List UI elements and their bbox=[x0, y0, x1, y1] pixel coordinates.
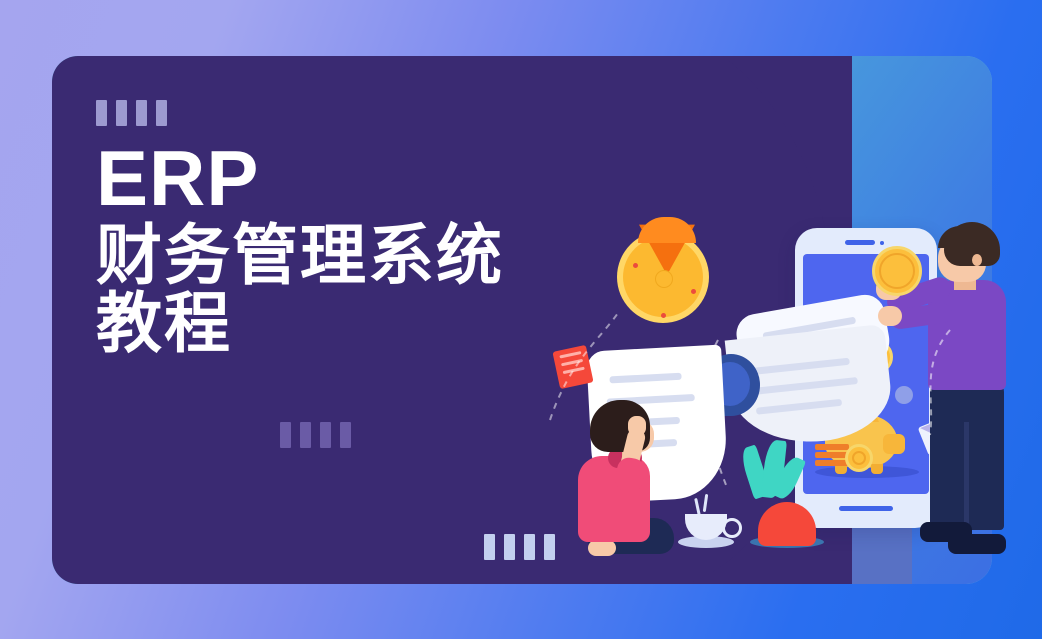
pie-chart-slice-cap bbox=[638, 217, 696, 243]
receipt-line bbox=[750, 358, 850, 375]
plant-pot bbox=[758, 502, 816, 546]
decorative-bars-top bbox=[96, 100, 167, 126]
receipt-line bbox=[746, 377, 858, 396]
gold-coin-held bbox=[872, 246, 922, 296]
seated-foot bbox=[588, 540, 616, 556]
bar-4 bbox=[544, 534, 555, 560]
decorative-bars-middle bbox=[280, 422, 351, 448]
dashed-connector-envelope bbox=[900, 330, 980, 440]
pie-chart-hub bbox=[655, 270, 673, 288]
phone-camera bbox=[880, 241, 884, 245]
pie-dot-2 bbox=[691, 289, 696, 294]
bar-1 bbox=[280, 422, 291, 448]
bar-4 bbox=[156, 100, 167, 126]
bar-4 bbox=[340, 422, 351, 448]
receipt-line bbox=[756, 399, 842, 415]
title-cn-line1: 财务管理系统 bbox=[96, 222, 504, 290]
potted-plant-icon bbox=[740, 440, 810, 550]
bar-2 bbox=[116, 100, 127, 126]
pie-dot-1 bbox=[633, 263, 638, 268]
man-ear bbox=[972, 254, 982, 266]
bar-2 bbox=[504, 534, 515, 560]
bar-3 bbox=[524, 534, 535, 560]
erp-course-banner: ERP 财务管理系统 教程 bbox=[0, 0, 1042, 639]
title-en: ERP bbox=[96, 138, 504, 218]
phone-speaker bbox=[845, 240, 875, 245]
dashed-connector-note bbox=[598, 330, 738, 500]
man-hand-lower bbox=[878, 306, 902, 326]
bar-3 bbox=[320, 422, 331, 448]
coffee-cup-icon bbox=[678, 500, 734, 550]
bar-3 bbox=[136, 100, 147, 126]
title-cn-line2: 教程 bbox=[96, 290, 504, 358]
headline-block: ERP 财务管理系统 教程 bbox=[96, 138, 504, 358]
decorative-bars-bottom bbox=[484, 534, 555, 560]
man-shoe-2 bbox=[948, 534, 1006, 554]
bar-2 bbox=[300, 422, 311, 448]
bar-1 bbox=[96, 100, 107, 126]
bar-1 bbox=[484, 534, 495, 560]
